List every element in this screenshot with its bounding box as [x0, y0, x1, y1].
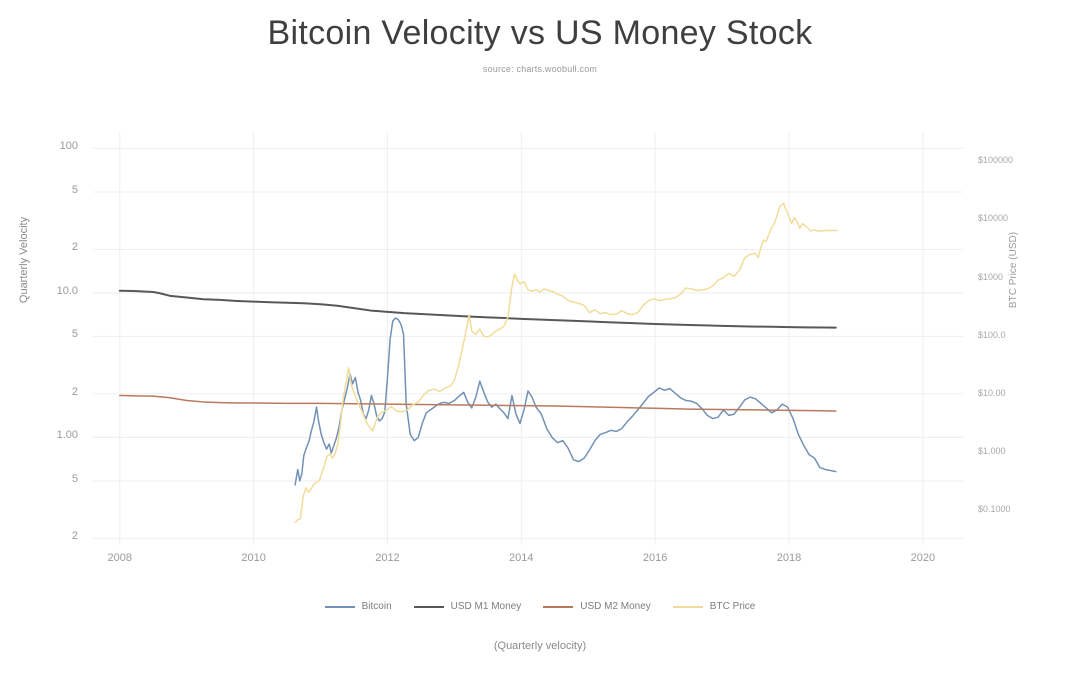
chart-legend: BitcoinUSD M1 MoneyUSD M2 MoneyBTC Price — [0, 601, 1080, 612]
series-line-bitcoin — [295, 318, 836, 485]
legend-item-bitcoin[interactable]: Bitcoin — [325, 601, 392, 612]
y-axis-right-tick-label: $100.0 — [978, 330, 1048, 340]
legend-item-btc-price[interactable]: BTC Price — [673, 601, 756, 612]
legend-item-usd-m2-money[interactable]: USD M2 Money — [543, 601, 651, 612]
y-axis-left-tick-label: 5 — [30, 328, 78, 340]
y-axis-right-tick-label: $0.1000 — [978, 504, 1048, 514]
y-axis-right-tick-label: $1000 — [978, 272, 1048, 282]
legend-swatch-icon — [673, 606, 703, 608]
series-line-btc-price — [295, 203, 837, 522]
y-axis-left-tick-label: 2 — [30, 386, 78, 398]
legend-label: USD M2 Money — [580, 601, 651, 612]
y-axis-right-tick-label: $1.000 — [978, 446, 1048, 456]
y-axis-left-tick-label: 100 — [30, 140, 78, 152]
chart-subtitle: source: charts.woobull.com — [0, 64, 1080, 74]
y-axis-left-tick-label: 2 — [30, 530, 78, 542]
x-axis-tick-label: 2016 — [625, 552, 685, 564]
y-axis-left-tick-label: 2 — [30, 241, 78, 253]
y-axis-left-tick-label: 5 — [30, 473, 78, 485]
series-line-usd-m2-money — [120, 396, 836, 412]
y-axis-left-tick-label: 1.00 — [30, 429, 78, 441]
series-line-usd-m1-money — [120, 291, 836, 328]
legend-item-usd-m1-money[interactable]: USD M1 Money — [414, 601, 522, 612]
y-axis-left-tick-label: 5 — [30, 184, 78, 196]
plot-area — [0, 0, 1080, 675]
y-axis-left-label: Quarterly Velocity — [18, 190, 30, 330]
x-axis-tick-label: 2010 — [224, 552, 284, 564]
y-axis-right-tick-label: $100000 — [978, 155, 1048, 165]
y-axis-left-tick-label: 10.0 — [30, 285, 78, 297]
legend-label: USD M1 Money — [451, 601, 522, 612]
legend-label: Bitcoin — [362, 601, 392, 612]
chart-figure: Bitcoin Velocity vs US Money Stock sourc… — [0, 0, 1080, 675]
legend-swatch-icon — [543, 606, 573, 608]
y-axis-right-tick-label: $10.00 — [978, 388, 1048, 398]
legend-swatch-icon — [325, 606, 355, 608]
chart-title: Bitcoin Velocity vs US Money Stock — [0, 14, 1080, 53]
chart-caption: (Quarterly velocity) — [0, 640, 1080, 652]
x-axis-tick-label: 2008 — [90, 552, 150, 564]
x-axis-tick-label: 2018 — [759, 552, 819, 564]
x-axis-tick-label: 2020 — [893, 552, 953, 564]
x-axis-tick-label: 2012 — [357, 552, 417, 564]
x-axis-tick-label: 2014 — [491, 552, 551, 564]
y-axis-right-tick-label: $10000 — [978, 213, 1048, 223]
legend-swatch-icon — [414, 606, 444, 608]
legend-label: BTC Price — [710, 601, 756, 612]
